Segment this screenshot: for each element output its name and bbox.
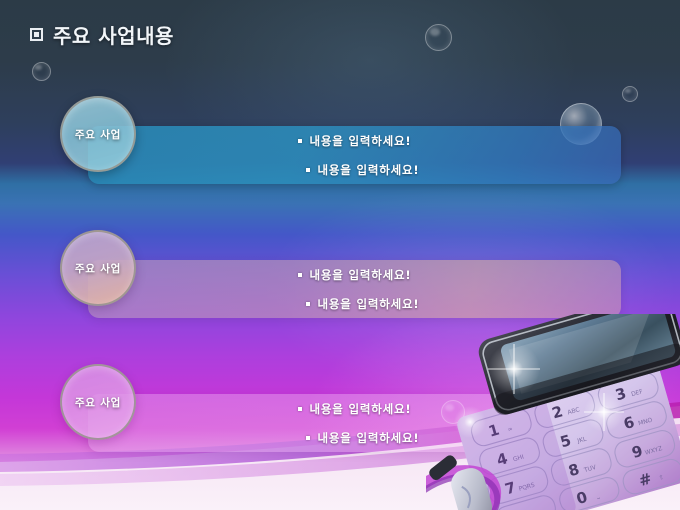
row-badge-circle[interactable]: 주요 사업: [60, 96, 136, 172]
bullet-list: 내용을 입력하세요! 내용을 입력하세요!: [88, 126, 621, 184]
content-row: 내용을 입력하세요! 내용을 입력하세요! 주요 사업: [60, 96, 625, 192]
row-badge-circle[interactable]: 주요 사업: [60, 230, 136, 306]
square-bullet-icon: [298, 407, 302, 411]
row-badge-label: 주요 사업: [75, 127, 121, 142]
square-bullet-icon: [298, 139, 302, 143]
row-badge-label: 주요 사업: [75, 261, 121, 276]
list-item-label: 내용을 입력하세요!: [318, 430, 420, 446]
mobile-phone-photo: 123 456 789 *0# ∞ABCDEF GHIJKLMNO PQRSTU…: [426, 314, 680, 510]
list-item-label: 내용을 입력하세요!: [318, 162, 420, 178]
slide-title-group: 주요 사업내용: [30, 20, 174, 49]
row-badge-label: 주요 사업: [75, 395, 121, 410]
list-item-label: 내용을 입력하세요!: [318, 296, 420, 312]
list-item-label: 내용을 입력하세요!: [310, 133, 412, 149]
square-bullet-icon: [306, 168, 310, 172]
list-item[interactable]: 내용을 입력하세요!: [290, 430, 420, 446]
list-item[interactable]: 내용을 입력하세요!: [290, 162, 420, 178]
list-item-label: 내용을 입력하세요!: [310, 401, 412, 417]
presentation-slide: 주요 사업내용 내용을 입력하세요! 내용을 입력하세요! 주요 사업: [0, 0, 680, 510]
list-item[interactable]: 내용을 입력하세요!: [290, 296, 420, 312]
content-bar[interactable]: 내용을 입력하세요! 내용을 입력하세요!: [88, 260, 621, 318]
square-bullet-icon: [306, 302, 310, 306]
list-item-label: 내용을 입력하세요!: [310, 267, 412, 283]
list-item[interactable]: 내용을 입력하세요!: [298, 133, 412, 149]
page-title: 주요 사업내용: [53, 20, 174, 49]
row-badge-circle[interactable]: 주요 사업: [60, 364, 136, 440]
list-item[interactable]: 내용을 입력하세요!: [298, 401, 412, 417]
bubble-ring-top-left-icon: [32, 62, 51, 81]
square-bullet-icon: [306, 436, 310, 440]
bullet-list: 내용을 입력하세요! 내용을 입력하세요!: [88, 260, 621, 318]
square-in-square-icon: [30, 28, 43, 41]
content-row: 내용을 입력하세요! 내용을 입력하세요! 주요 사업: [60, 230, 625, 326]
bubble-ring-top-mid-icon: [425, 24, 452, 51]
square-bullet-icon: [298, 273, 302, 277]
list-item[interactable]: 내용을 입력하세요!: [298, 267, 412, 283]
content-bar[interactable]: 내용을 입력하세요! 내용을 입력하세요!: [88, 126, 621, 184]
